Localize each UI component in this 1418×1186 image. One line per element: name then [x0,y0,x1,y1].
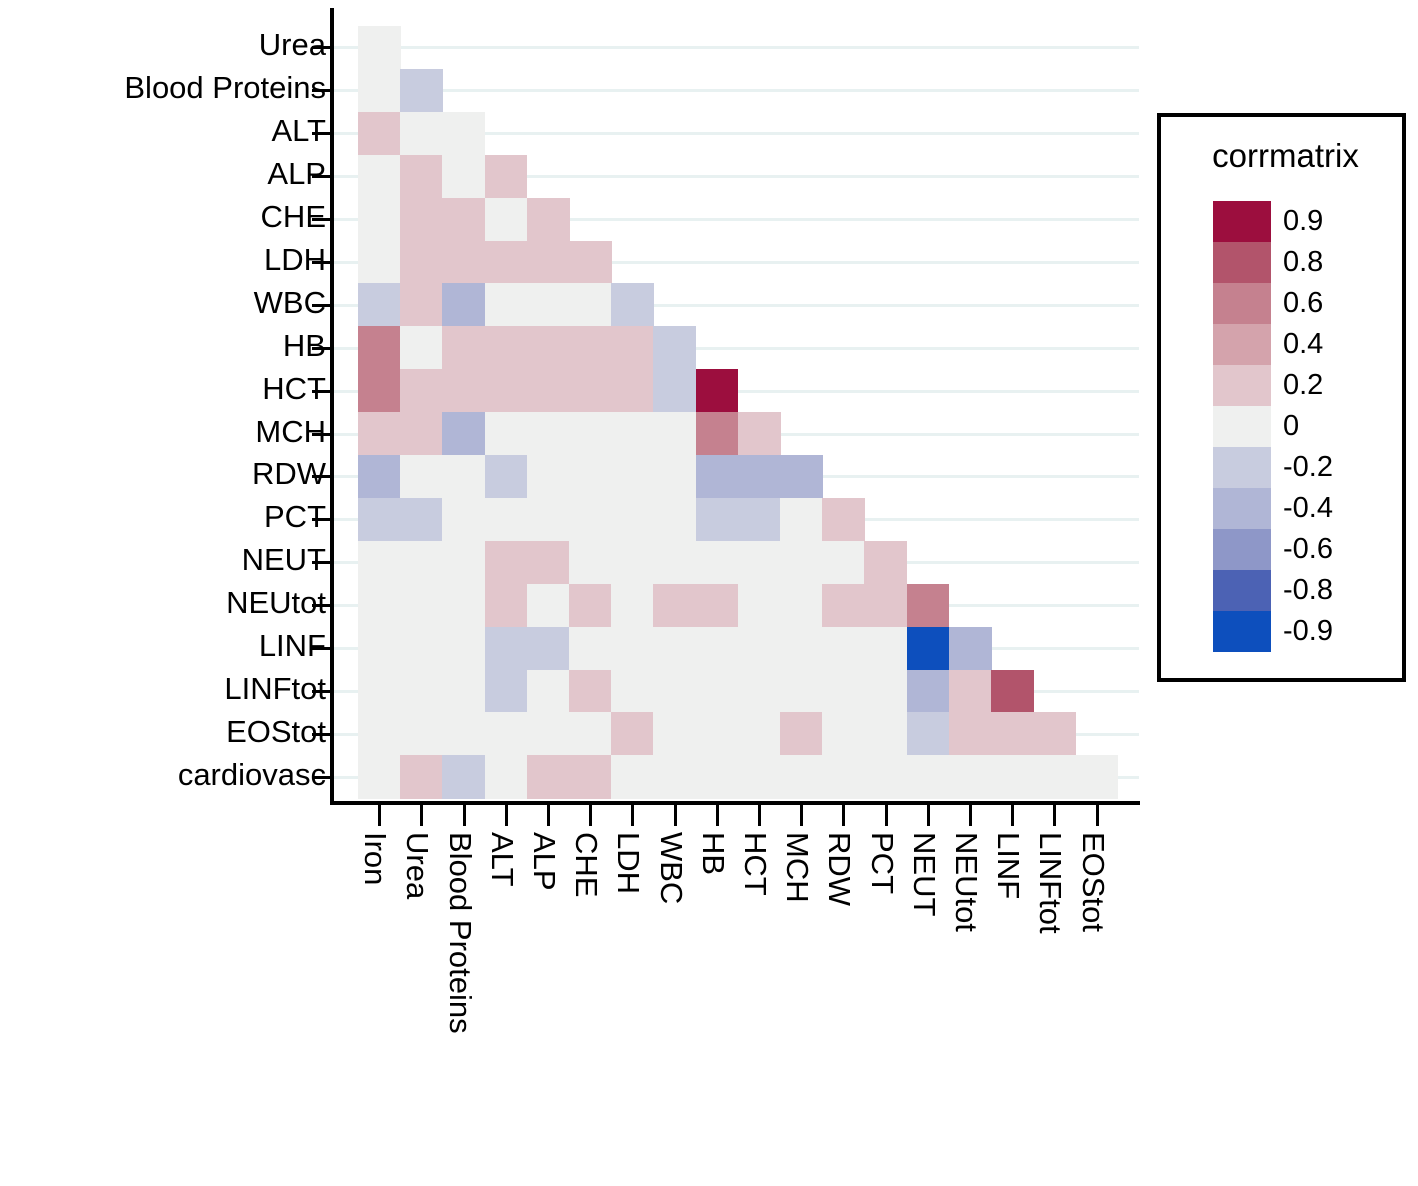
heatmap-cell [864,755,907,799]
heatmap-cell [569,627,612,671]
x-tick-label: NEUtot [951,832,982,932]
heatmap-cell [738,584,781,628]
heatmap-cell [780,584,823,628]
heatmap-cell [400,198,443,242]
x-tick-label: MCH [782,832,813,903]
heatmap-cell [653,369,696,413]
heatmap-cell [400,112,443,156]
heatmap-cell [822,712,865,756]
heatmap-cell [485,198,528,242]
heatmap-cell [864,584,907,628]
heatmap-cell [442,541,485,585]
heatmap-cell [822,670,865,714]
heatmap-cell [780,755,823,799]
heatmap-cell [738,712,781,756]
legend-tick-label: 0.6 [1283,283,1393,324]
heatmap-cell [611,584,654,628]
heatmap-cell [485,283,528,327]
y-tick-label: LINFtot [224,673,326,704]
x-axis-tick [800,805,803,826]
heatmap-cell [569,670,612,714]
heatmap-cell [949,712,992,756]
y-tick-label: HB [283,330,326,361]
heatmap-cell [527,326,570,370]
heatmap-cell [611,627,654,671]
legend-swatch [1213,611,1271,652]
heatmap-cell [485,627,528,671]
heatmap-cell [485,412,528,456]
x-tick-label: WBC [656,832,687,904]
x-axis-tick [885,805,888,826]
heatmap-cell [485,326,528,370]
legend-swatch [1213,365,1271,406]
heatmap-cell [696,455,739,499]
heatmap-cell [653,627,696,671]
heatmap-cell [738,670,781,714]
heatmap-cell [611,369,654,413]
heatmap-cell [358,455,401,499]
legend-title: corrmatrix [1161,137,1410,175]
x-axis-tick [842,805,845,826]
heatmap-cell [358,584,401,628]
heatmap-cell [485,498,528,542]
heatmap-cell [400,755,443,799]
heatmap-cell [780,498,823,542]
y-tick-label: Blood Proteins [124,72,326,103]
y-tick-label: MCH [255,416,326,447]
heatmap-cell [611,412,654,456]
heatmap-cell [527,755,570,799]
heatmap-cell [527,627,570,671]
y-tick-label: ALT [271,115,326,146]
heatmap-cell [864,541,907,585]
x-axis-tick [631,805,634,826]
x-axis-tick [378,805,381,826]
heatmap-cell [485,755,528,799]
heatmap-cell [1075,755,1118,799]
heatmap-cell [442,112,485,156]
x-tick-label: LINF [993,832,1024,899]
heatmap-cell [527,283,570,327]
heatmap-cell [400,670,443,714]
heatmap-cell [358,69,401,113]
x-axis-tick [1096,805,1099,826]
legend-panel: corrmatrix 0.90.80.60.40.20-0.2-0.4-0.6-… [1157,113,1406,682]
heatmap-cell [611,326,654,370]
heatmap-cell [738,412,781,456]
heatmap-cell [696,541,739,585]
heatmap-cell [864,627,907,671]
heatmap-cell [611,541,654,585]
heatmap-cell [527,712,570,756]
heatmap-cell [696,369,739,413]
heatmap-cell [907,670,950,714]
x-tick-label: HCT [740,832,771,896]
y-tick-label: RDW [252,458,326,489]
heatmap-cell [358,283,401,327]
heatmap-cell [907,627,950,671]
x-axis-line [330,801,1140,805]
heatmap-cell [949,755,992,799]
x-axis-tick [1053,805,1056,826]
heatmap-cell [569,283,612,327]
heatmap-cell [527,498,570,542]
heatmap-cell [611,755,654,799]
heatmap-cell [400,712,443,756]
x-tick-label: PCT [867,832,898,894]
heatmap-cell [611,498,654,542]
x-axis-tick [463,805,466,826]
heatmap-cell [738,541,781,585]
heatmap-cell [696,498,739,542]
heatmap-cell [780,455,823,499]
heatmap-cell [527,241,570,285]
heatmap-cell [485,584,528,628]
heatmap-cell [864,670,907,714]
heatmap-cell [738,755,781,799]
y-tick-label: EOStot [226,716,326,747]
x-tick-label: ALP [529,832,560,891]
y-tick-label: WBC [254,287,326,318]
heatmap-cell [485,241,528,285]
heatmap-cell [358,326,401,370]
x-tick-label: NEUT [909,832,940,916]
heatmap-cell [442,326,485,370]
y-tick-label: Urea [259,29,326,60]
heatmap-cell [400,241,443,285]
heatmap-cell [569,326,612,370]
legend-tick-label: 0 [1283,406,1393,447]
heatmap-cell [358,155,401,199]
legend-swatch [1213,324,1271,365]
legend-swatch [1213,406,1271,447]
x-tick-label: EOStot [1078,832,1109,932]
heatmap-cell [442,498,485,542]
heatmap-cell [358,712,401,756]
y-axis-line [330,8,334,805]
heatmap-cell [991,712,1034,756]
heatmap-cell [991,670,1034,714]
x-tick-label: CHE [571,832,602,897]
x-axis-tick [420,805,423,826]
heatmap-cell [400,283,443,327]
heatmap-cell [400,412,443,456]
heatmap-cell [611,670,654,714]
legend-tick-label: -0.8 [1283,570,1393,611]
y-tick-label: PCT [264,501,326,532]
heatmap-cell [485,369,528,413]
heatmap-cell [653,755,696,799]
heatmap-cell [653,326,696,370]
heatmap-cell [780,627,823,671]
heatmap-cell [738,627,781,671]
heatmap-cell [400,369,443,413]
heatmap-cell [822,627,865,671]
heatmap-cell [442,412,485,456]
heatmap-cell [611,455,654,499]
heatmap-cell [1033,755,1076,799]
heatmap-cell [485,455,528,499]
heatmap-cell [527,412,570,456]
heatmap-cell [485,670,528,714]
heatmap-cell [527,455,570,499]
heatmap-cell [400,69,443,113]
heatmap-cell [569,584,612,628]
heatmap-cell [442,455,485,499]
heatmap-cell [569,541,612,585]
x-tick-label: LDH [613,832,644,894]
y-tick-label: ALP [267,158,326,189]
y-tick-label: NEUtot [226,587,326,618]
heatmap-cell [400,498,443,542]
y-tick-label: LDH [264,244,326,275]
y-tick-label: LINF [259,630,326,661]
heatmap-cell [653,712,696,756]
heatmap-cell [569,241,612,285]
x-axis-tick [547,805,550,826]
heatmap-cell [358,112,401,156]
heatmap-cell [569,455,612,499]
heatmap-cell [822,498,865,542]
heatmap-cell [442,198,485,242]
y-tick-label: cardiovasc [178,759,326,790]
x-tick-label: ALT [487,832,518,887]
heatmap-cell [949,670,992,714]
heatmap-cell [400,155,443,199]
x-axis-tick [927,805,930,826]
legend-swatch [1213,283,1271,324]
heatmap-cell [780,541,823,585]
heatmap-cell [442,670,485,714]
heatmap-cell [358,241,401,285]
x-tick-label: Urea [402,832,433,899]
heatmap-cell [696,670,739,714]
heatmap-cell [991,755,1034,799]
x-tick-label: Iron [360,832,391,885]
heatmap-cell [442,584,485,628]
heatmap-cell [822,755,865,799]
heatmap-cell [780,670,823,714]
heatmap-cell [907,584,950,628]
heatmap-cell [358,198,401,242]
heatmap-cell [907,712,950,756]
heatmap-cell [653,455,696,499]
heatmap-cell [611,712,654,756]
heatmap-cell [653,670,696,714]
legend-swatch [1213,570,1271,611]
legend-tick-label: 0.2 [1283,365,1393,406]
x-axis-tick [589,805,592,826]
heatmap-cell [569,712,612,756]
heatmap-cell [358,670,401,714]
heatmap-cell [400,455,443,499]
x-axis-tick [674,805,677,826]
x-axis-tick [505,805,508,826]
heatmap-cell [653,584,696,628]
heatmap-cell [400,541,443,585]
heatmap-cell [400,584,443,628]
heatmap-cell [569,412,612,456]
heatmap-cell [822,584,865,628]
heatmap-cell [527,584,570,628]
x-axis-tick [1011,805,1014,826]
heatmap-cell [442,712,485,756]
heatmap-cell [653,541,696,585]
heatmap-cell [358,627,401,671]
heatmap-cell [696,755,739,799]
legend-tick-label: 0.9 [1283,201,1393,242]
x-tick-label: RDW [824,832,855,906]
x-tick-label: Blood Proteins [445,832,476,1034]
heatmap-cell [611,283,654,327]
heatmap-cell [485,541,528,585]
heatmap-cell [822,541,865,585]
heatmap-cell [569,369,612,413]
x-axis-tick [969,805,972,826]
x-tick-label: LINFtot [1035,832,1066,934]
heatmap-cell [442,755,485,799]
legend-swatch [1213,242,1271,283]
y-tick-label: CHE [261,201,326,232]
heatmap-cell [1033,712,1076,756]
legend-tick-label: 0.8 [1283,242,1393,283]
heatmap-cell [780,712,823,756]
heatmap-cell [358,412,401,456]
heatmap-cell [696,584,739,628]
heatmap-cell [442,241,485,285]
legend-tick-label: 0.4 [1283,324,1393,365]
legend-swatch [1213,529,1271,570]
y-tick-label: HCT [262,373,326,404]
legend-swatch [1213,447,1271,488]
heatmap-cell [738,455,781,499]
legend-tick-label: -0.6 [1283,529,1393,570]
heatmap-cell [400,627,443,671]
heatmap-cell [442,155,485,199]
heatmap-cell [442,627,485,671]
heatmap-cell [358,26,401,70]
heatmap-cell [485,712,528,756]
figure-canvas: UreaBlood ProteinsALTALPCHELDHWBCHBHCTMC… [0,0,1418,1186]
heatmap-cell [569,755,612,799]
heatmap-cell [653,412,696,456]
legend-tick-label: -0.4 [1283,488,1393,529]
legend-swatch [1213,201,1271,242]
heatmap-cell [358,541,401,585]
heatmap-cell [864,712,907,756]
legend-tick-label: -0.2 [1283,447,1393,488]
heatmap-cell [696,412,739,456]
x-tick-label: HB [698,832,729,875]
heatmap-cell [400,326,443,370]
heatmap-cell [653,498,696,542]
heatmap-cell [527,369,570,413]
heatmap-cell [949,627,992,671]
legend-swatch [1213,488,1271,529]
x-axis-tick [758,805,761,826]
legend-tick-label: -0.9 [1283,611,1393,652]
x-axis-tick [716,805,719,826]
heatmap-cell [527,670,570,714]
heatmap-cell [442,369,485,413]
heatmap-cell [738,498,781,542]
heatmap-cell [358,755,401,799]
heatmap-cell [696,712,739,756]
heatmap-cell [569,498,612,542]
y-tick-label: NEUT [242,544,326,575]
heatmap-cell [907,755,950,799]
heatmap-cell [527,198,570,242]
heatmap-cell [358,369,401,413]
heatmap-cell [442,283,485,327]
heatmap-cell [485,155,528,199]
heatmap-cell [527,541,570,585]
heatmap-cell [696,627,739,671]
heatmap-cell [358,498,401,542]
